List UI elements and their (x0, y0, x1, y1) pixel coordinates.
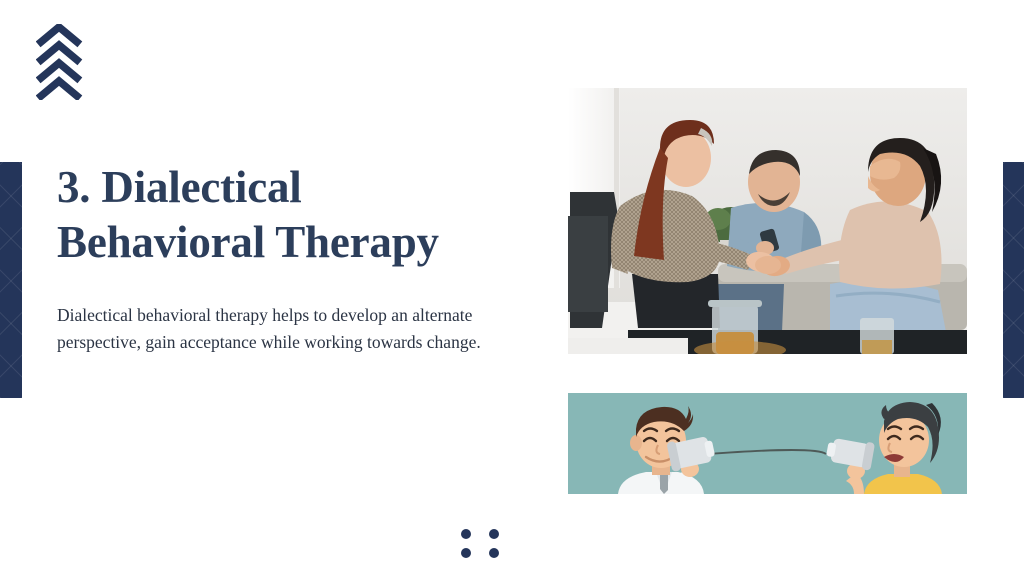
page-title: 3. Dialectical Behavioral Therapy (57, 160, 527, 270)
slide-canvas: 3. Dialectical Behavioral Therapy Dialec… (0, 0, 1024, 576)
left-navy-pattern-bar (0, 162, 22, 398)
tin-can-telephone-illustration (568, 393, 967, 494)
right-navy-pattern-bar (1003, 162, 1024, 398)
dot-3 (461, 548, 471, 558)
therapy-session-photo (568, 88, 967, 354)
body-paragraph: Dialectical behavioral therapy helps to … (57, 270, 497, 357)
four-dot-decoration (461, 529, 503, 562)
dot-4 (489, 548, 499, 558)
chevron-stack-mark-icon (36, 24, 84, 100)
text-column: 3. Dialectical Behavioral Therapy Dialec… (57, 160, 527, 356)
dot-1 (461, 529, 471, 539)
dot-2 (489, 529, 499, 539)
